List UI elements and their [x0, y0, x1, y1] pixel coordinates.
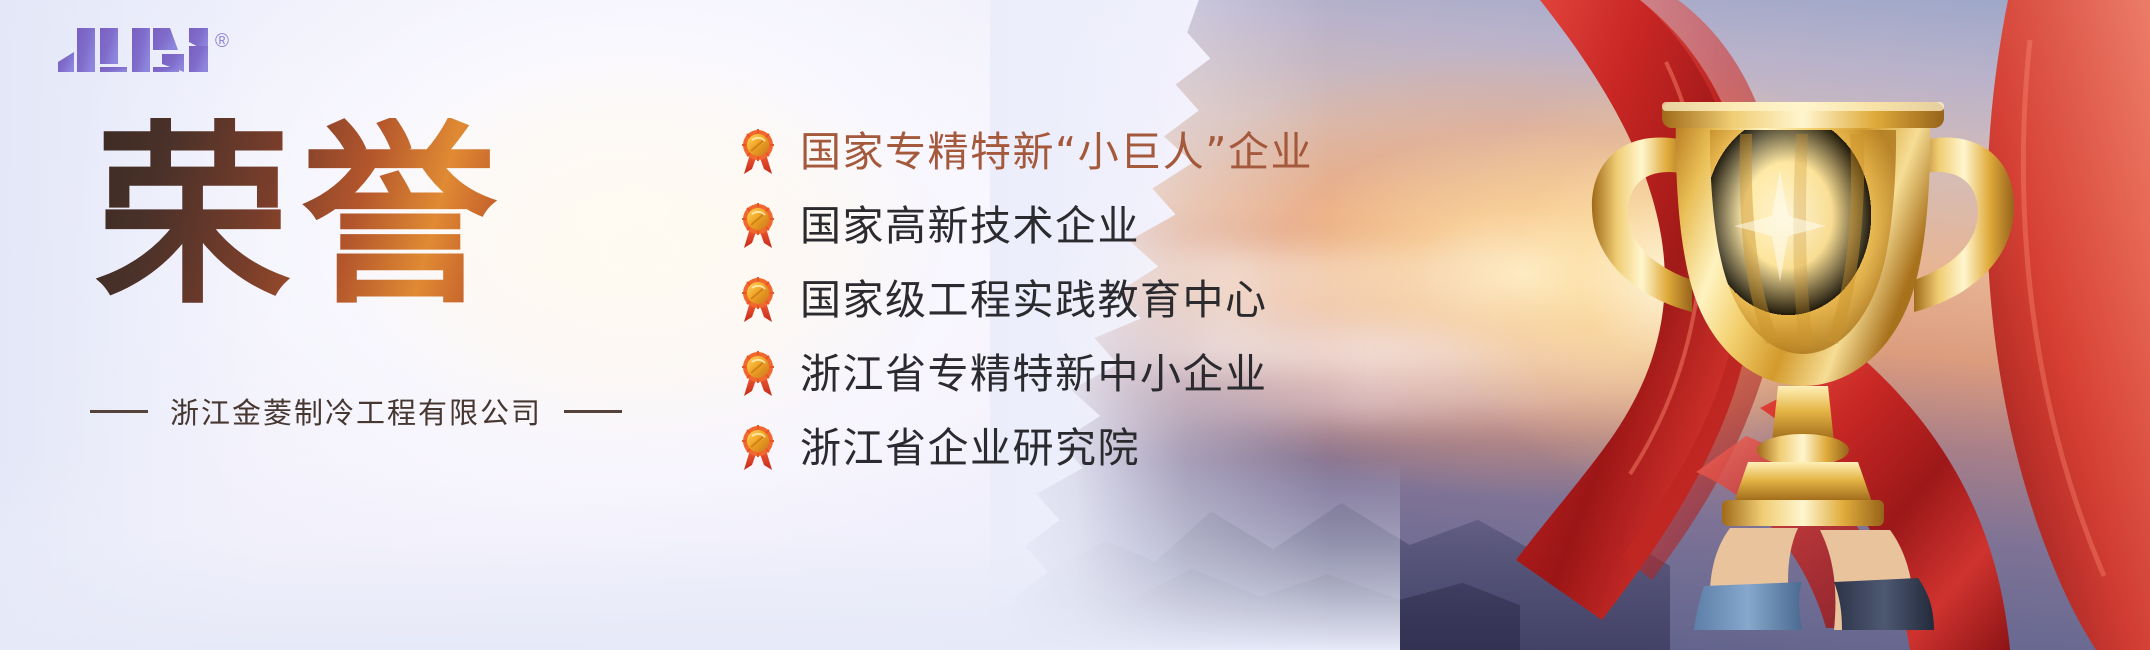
dash-left: [90, 410, 148, 413]
honor-label: 国家高新技术企业: [800, 206, 1140, 247]
jlzl-logo-icon: [58, 28, 208, 72]
honors-list: 国家专精特新“小巨人”企业: [738, 126, 1313, 474]
list-item: 国家专精特新“小巨人”企业: [738, 126, 1313, 178]
medal-icon: [738, 424, 778, 472]
medal-icon: [738, 276, 778, 324]
trophy-glow: [1440, 70, 1900, 490]
list-item: 浙江省专精特新中小企业: [738, 348, 1313, 400]
brand-logo[interactable]: ®: [58, 28, 229, 72]
bottom-edge-vignette: [0, 460, 1400, 650]
list-item: 国家高新技术企业: [738, 200, 1313, 252]
page-title-text: 荣誉: [95, 118, 615, 318]
honor-banner: ® 荣誉 浙江金菱制冷工程有限公司: [0, 0, 2150, 650]
medal-icon: [738, 128, 778, 176]
gold-trophy-icon: [1534, 30, 2054, 630]
list-item: 国家级工程实践教育中心: [738, 274, 1313, 326]
honor-label: 国家级工程实践教育中心: [800, 280, 1268, 321]
company-name: 浙江金菱制冷工程有限公司: [170, 390, 542, 432]
registered-mark: ®: [215, 32, 229, 51]
red-ribbon-icon: [1390, 0, 2150, 650]
mountain-ridge-near: [1000, 510, 1520, 650]
medal-icon: [738, 202, 778, 250]
honor-label: 浙江省专精特新中小企业: [800, 354, 1268, 395]
medal-icon: [738, 350, 778, 398]
dash-right: [564, 410, 622, 413]
honor-label: 浙江省企业研究院: [800, 428, 1140, 469]
honor-label: 国家专精特新“小巨人”企业: [800, 132, 1313, 173]
list-item: 浙江省企业研究院: [738, 422, 1313, 474]
company-name-row: 浙江金菱制冷工程有限公司: [90, 390, 590, 432]
page-title: 荣誉: [95, 118, 615, 318]
